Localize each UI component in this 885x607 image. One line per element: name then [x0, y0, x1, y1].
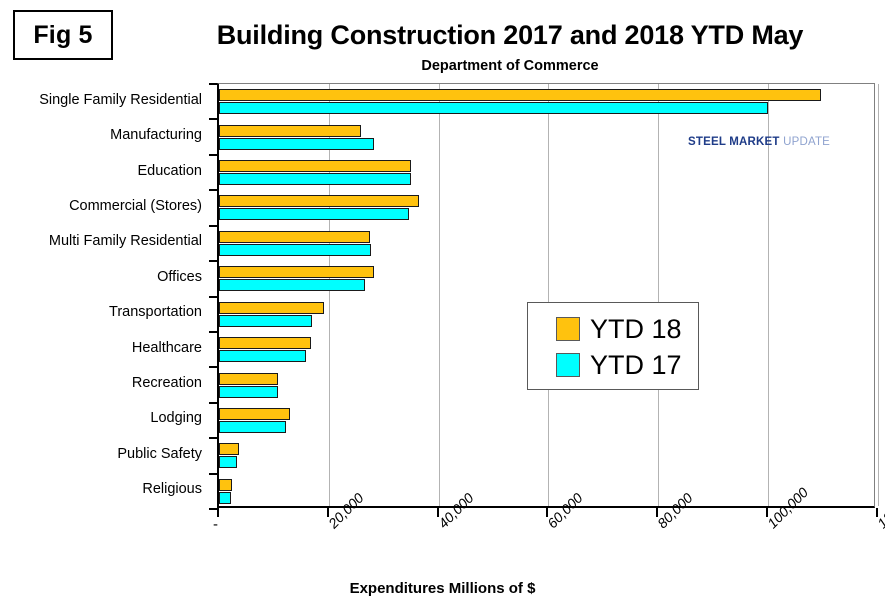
bar-ytd17 [219, 315, 312, 327]
category-axis-labels: Single Family ResidentialManufacturingEd… [0, 83, 210, 508]
bar-ytd18 [219, 160, 411, 172]
category-tick [209, 118, 217, 120]
bar-ytd17 [219, 386, 278, 398]
bar-group [219, 190, 874, 225]
category-tick [209, 331, 217, 333]
bar-ytd18 [219, 125, 361, 137]
bar-ytd17 [219, 456, 237, 468]
category-tick [209, 83, 217, 85]
legend-item[interactable]: YTD 17 [528, 347, 698, 383]
category-label: Offices [157, 269, 202, 285]
logo-wordmark: STEEL MARKET UPDATE [688, 136, 830, 148]
bar-ytd18 [219, 266, 374, 278]
category-tick [209, 296, 217, 298]
category-label: Transportation [109, 304, 202, 320]
bar-ytd17 [219, 421, 286, 433]
bar-group [219, 403, 874, 438]
category-label: Religious [142, 481, 202, 497]
bar-group [219, 474, 874, 509]
gridline [878, 84, 879, 506]
bar-ytd17 [219, 102, 768, 114]
category-label: Public Safety [117, 446, 202, 462]
category-tick [209, 189, 217, 191]
bar-ytd17 [219, 244, 371, 256]
bar-ytd18 [219, 231, 370, 243]
bar-ytd18 [219, 195, 419, 207]
category-tick [209, 402, 217, 404]
bar-ytd17 [219, 279, 365, 291]
category-label: Commercial (Stores) [69, 198, 202, 214]
category-tick [209, 260, 217, 262]
category-label: Education [138, 163, 203, 179]
bar-ytd18 [219, 443, 239, 455]
bar-group [219, 261, 874, 296]
bar-ytd18 [219, 337, 311, 349]
x-axis-title: Expenditures Millions of $ [0, 580, 885, 597]
bar-ytd17 [219, 138, 374, 150]
value-tick-label: - [213, 516, 218, 533]
category-tick [209, 154, 217, 156]
bar-ytd18 [219, 479, 232, 491]
figure-badge-label: Fig 5 [33, 21, 92, 50]
category-label: Recreation [132, 375, 202, 391]
chart-subtitle: Department of Commerce [150, 58, 870, 74]
category-label: Multi Family Residential [49, 233, 202, 249]
bar-ytd18 [219, 302, 324, 314]
bar-ytd18 [219, 408, 290, 420]
bar-ytd17 [219, 492, 231, 504]
category-tick [209, 225, 217, 227]
steel-market-update-logo: STEEL MARKET UPDATE [672, 118, 838, 166]
chart-title: Building Construction 2017 and 2018 YTD … [150, 20, 870, 51]
legend-swatch [556, 353, 580, 377]
chart-legend[interactable]: YTD 18YTD 17 [527, 302, 699, 390]
category-label: Lodging [150, 410, 202, 426]
legend-label: YTD 17 [590, 352, 682, 379]
bar-ytd17 [219, 173, 411, 185]
category-tick [209, 437, 217, 439]
bar-group [219, 438, 874, 473]
value-axis-ticks: -20,00040,00060,00080,000100,000120,000 [0, 508, 885, 578]
bar-group [219, 226, 874, 261]
bar-ytd17 [219, 350, 306, 362]
category-tick [209, 366, 217, 368]
legend-item[interactable]: YTD 18 [528, 311, 698, 347]
category-label: Manufacturing [110, 127, 202, 143]
legend-swatch [556, 317, 580, 341]
logo-word-steel: STEEL [688, 136, 726, 148]
bar-ytd17 [219, 208, 409, 220]
legend-label: YTD 18 [590, 316, 682, 343]
bar-ytd18 [219, 373, 278, 385]
category-label: Healthcare [132, 340, 202, 356]
logo-word-update: UPDATE [783, 136, 830, 148]
figure-badge: Fig 5 [13, 10, 113, 60]
bar-group [219, 84, 874, 119]
bar-ytd18 [219, 89, 821, 101]
logo-word-market: MARKET [729, 136, 779, 148]
category-tick [209, 473, 217, 475]
category-label: Single Family Residential [39, 92, 202, 108]
